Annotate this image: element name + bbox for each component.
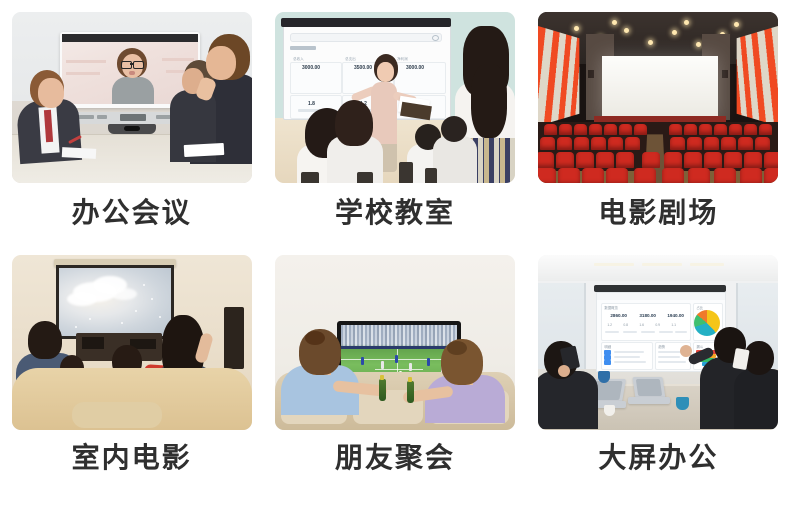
scenario-card-school-classroom[interactable]: 3000.00 3500.00 3000.00 总收入 总支出 净利润 1.8 … — [263, 0, 526, 240]
scenario-caption-office-meeting: 办公会议 — [72, 199, 192, 227]
scenario-card-home-cinema[interactable]: 室内电影 — [0, 240, 263, 527]
scenario-image-home-cinema — [12, 255, 252, 430]
scenario-card-office-meeting[interactable]: 办公会议 — [0, 0, 263, 240]
scenario-card-movie-theater[interactable]: 电影剧场 — [527, 0, 790, 240]
video-conference-room-illustration — [12, 12, 252, 183]
scenario-card-big-screen-office[interactable]: 数据概览 占比 2860.00 3180.00 1940.00 1.2 0.8 … — [527, 240, 790, 527]
living-room-projection-illustration — [12, 255, 252, 430]
scenario-image-office-meeting — [12, 12, 252, 183]
scenario-card-friends-gathering[interactable]: 朋友聚会 — [263, 240, 526, 527]
scenario-image-big-screen-office: 数据概览 占比 2860.00 3180.00 1940.00 1.2 0.8 … — [538, 255, 778, 430]
scenario-caption-movie-theater: 电影剧场 — [598, 199, 718, 227]
scenario-image-movie-theater — [538, 12, 778, 183]
scenario-grid: 办公会议 3000.00 3500.00 3000.00 总收 — [0, 0, 790, 527]
scenario-caption-home-cinema: 室内电影 — [72, 444, 192, 472]
cinema-auditorium-illustration — [538, 12, 778, 183]
scenario-image-friends-gathering — [275, 255, 515, 430]
scenario-caption-school-classroom: 学校教室 — [335, 199, 455, 227]
scenario-image-school-classroom: 3000.00 3500.00 3000.00 总收入 总支出 净利润 1.8 … — [275, 12, 515, 183]
scenario-showcase-page: 办公会议 3000.00 3500.00 3000.00 总收 — [0, 0, 790, 527]
friends-watching-football-illustration — [275, 255, 515, 430]
office-dashboard-presentation-illustration: 数据概览 占比 2860.00 3180.00 1940.00 1.2 0.8 … — [538, 255, 778, 430]
classroom-whiteboard-illustration: 3000.00 3500.00 3000.00 总收入 总支出 净利润 1.8 … — [275, 12, 515, 183]
scenario-caption-friends-gathering: 朋友聚会 — [335, 444, 455, 472]
scenario-caption-big-screen-office: 大屏办公 — [598, 444, 718, 472]
